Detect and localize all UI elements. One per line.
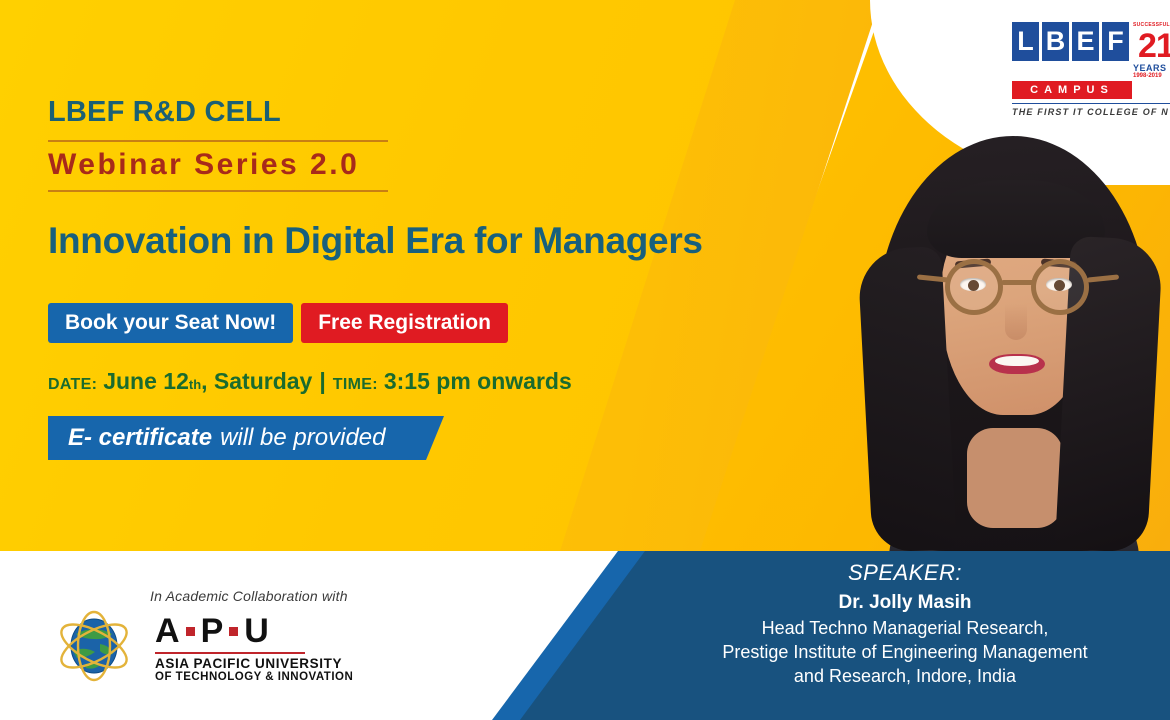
lbef-anniversary-block: SUCCESSFUL 21 YEARS 1998-2019 xyxy=(1133,22,1170,79)
speaker-affiliation-2: Prestige Institute of Engineering Manage… xyxy=(640,641,1170,665)
apu-dot-1 xyxy=(186,627,195,636)
apu-name-line-1: ASIA PACIFIC UNIVERSITY xyxy=(155,656,342,671)
lbef-logo-letters: L B E F xyxy=(1012,22,1129,61)
lbef-letter-b: B xyxy=(1042,22,1069,61)
date-weekday: , Saturday xyxy=(201,368,312,395)
speaker-affiliation-3: and Research, Indore, India xyxy=(640,665,1170,689)
portrait-neck xyxy=(967,428,1063,528)
lbef-letter-l: L xyxy=(1012,22,1039,61)
lbef-letter-e: E xyxy=(1072,22,1099,61)
speaker-name: Dr. Jolly Masih xyxy=(640,592,1170,614)
series-heading: Webinar Series 2.0 xyxy=(48,148,359,182)
glasses-lens-right xyxy=(1031,259,1089,315)
glasses-lens-left xyxy=(945,259,1003,315)
speaker-panel: SPEAKER: Dr. Jolly Masih Head Techno Man… xyxy=(640,560,1170,688)
lbef-anniversary-number: 21 xyxy=(1138,29,1170,63)
speaker-photo xyxy=(855,128,1170,551)
lbef-logo-row: L B E F SUCCESSFUL 21 YEARS 1998-2019 xyxy=(1012,22,1170,79)
series-rule-bottom xyxy=(48,190,388,192)
date-label: DATE: xyxy=(48,376,97,394)
lbef-letter-f: F xyxy=(1102,22,1129,61)
date-value: June 12 xyxy=(103,368,189,395)
schedule-separator: | xyxy=(319,368,325,395)
org-unit-heading: LBEF R&D CELL xyxy=(48,96,281,129)
lbef-tagline: THE FIRST IT COLLEGE OF N xyxy=(1012,103,1170,117)
speaker-affiliation-1: Head Techno Managerial Research, xyxy=(640,617,1170,641)
apu-letter-p: P xyxy=(201,612,224,651)
book-seat-button[interactable]: Book your Seat Now! xyxy=(48,303,293,343)
portrait-nose xyxy=(1005,304,1027,340)
speaker-photo-inner xyxy=(855,128,1170,551)
apu-dot-2 xyxy=(229,627,238,636)
series-rule-top xyxy=(48,140,388,142)
certificate-banner: E- certificate will be provided xyxy=(48,416,444,460)
page-title: Innovation in Digital Era for Managers xyxy=(48,220,703,262)
date-ordinal-suffix: th xyxy=(189,377,201,392)
apu-globe-icon xyxy=(55,606,133,684)
cta-button-row: Book your Seat Now! Free Registration xyxy=(48,303,508,343)
webinar-poster: L B E F SUCCESSFUL 21 YEARS 1998-2019 CA… xyxy=(0,0,1170,720)
apu-divider xyxy=(155,652,305,654)
portrait-teeth xyxy=(995,356,1039,366)
certificate-note: will be provided xyxy=(220,424,385,452)
lbef-campus-bar: CAMPUS xyxy=(1012,81,1132,99)
lbef-years-label: YEARS xyxy=(1133,63,1170,73)
collaboration-text: In Academic Collaboration with xyxy=(150,588,348,604)
speaker-label: SPEAKER: xyxy=(640,560,1170,586)
time-value: 3:15 pm onwards xyxy=(384,368,572,395)
apu-name-line-2: OF TECHNOLOGY & INNOVATION xyxy=(155,671,353,683)
lbef-logo: L B E F SUCCESSFUL 21 YEARS 1998-2019 CA… xyxy=(1012,22,1170,100)
free-registration-button[interactable]: Free Registration xyxy=(301,303,508,343)
apu-acronym: A P U xyxy=(155,612,269,651)
apu-letter-a: A xyxy=(155,612,180,651)
portrait-hair-left xyxy=(857,246,957,551)
lbef-year-span: 1998-2019 xyxy=(1133,73,1170,79)
certificate-label: E- certificate xyxy=(68,424,212,452)
glasses-bridge xyxy=(1001,280,1035,285)
apu-letter-u: U xyxy=(244,612,269,651)
partner-block: In Academic Collaboration with A P U ASI… xyxy=(55,588,405,683)
schedule-line: DATE: June 12 th , Saturday | TIME: 3:15… xyxy=(48,368,572,395)
time-label: TIME: xyxy=(333,376,378,394)
